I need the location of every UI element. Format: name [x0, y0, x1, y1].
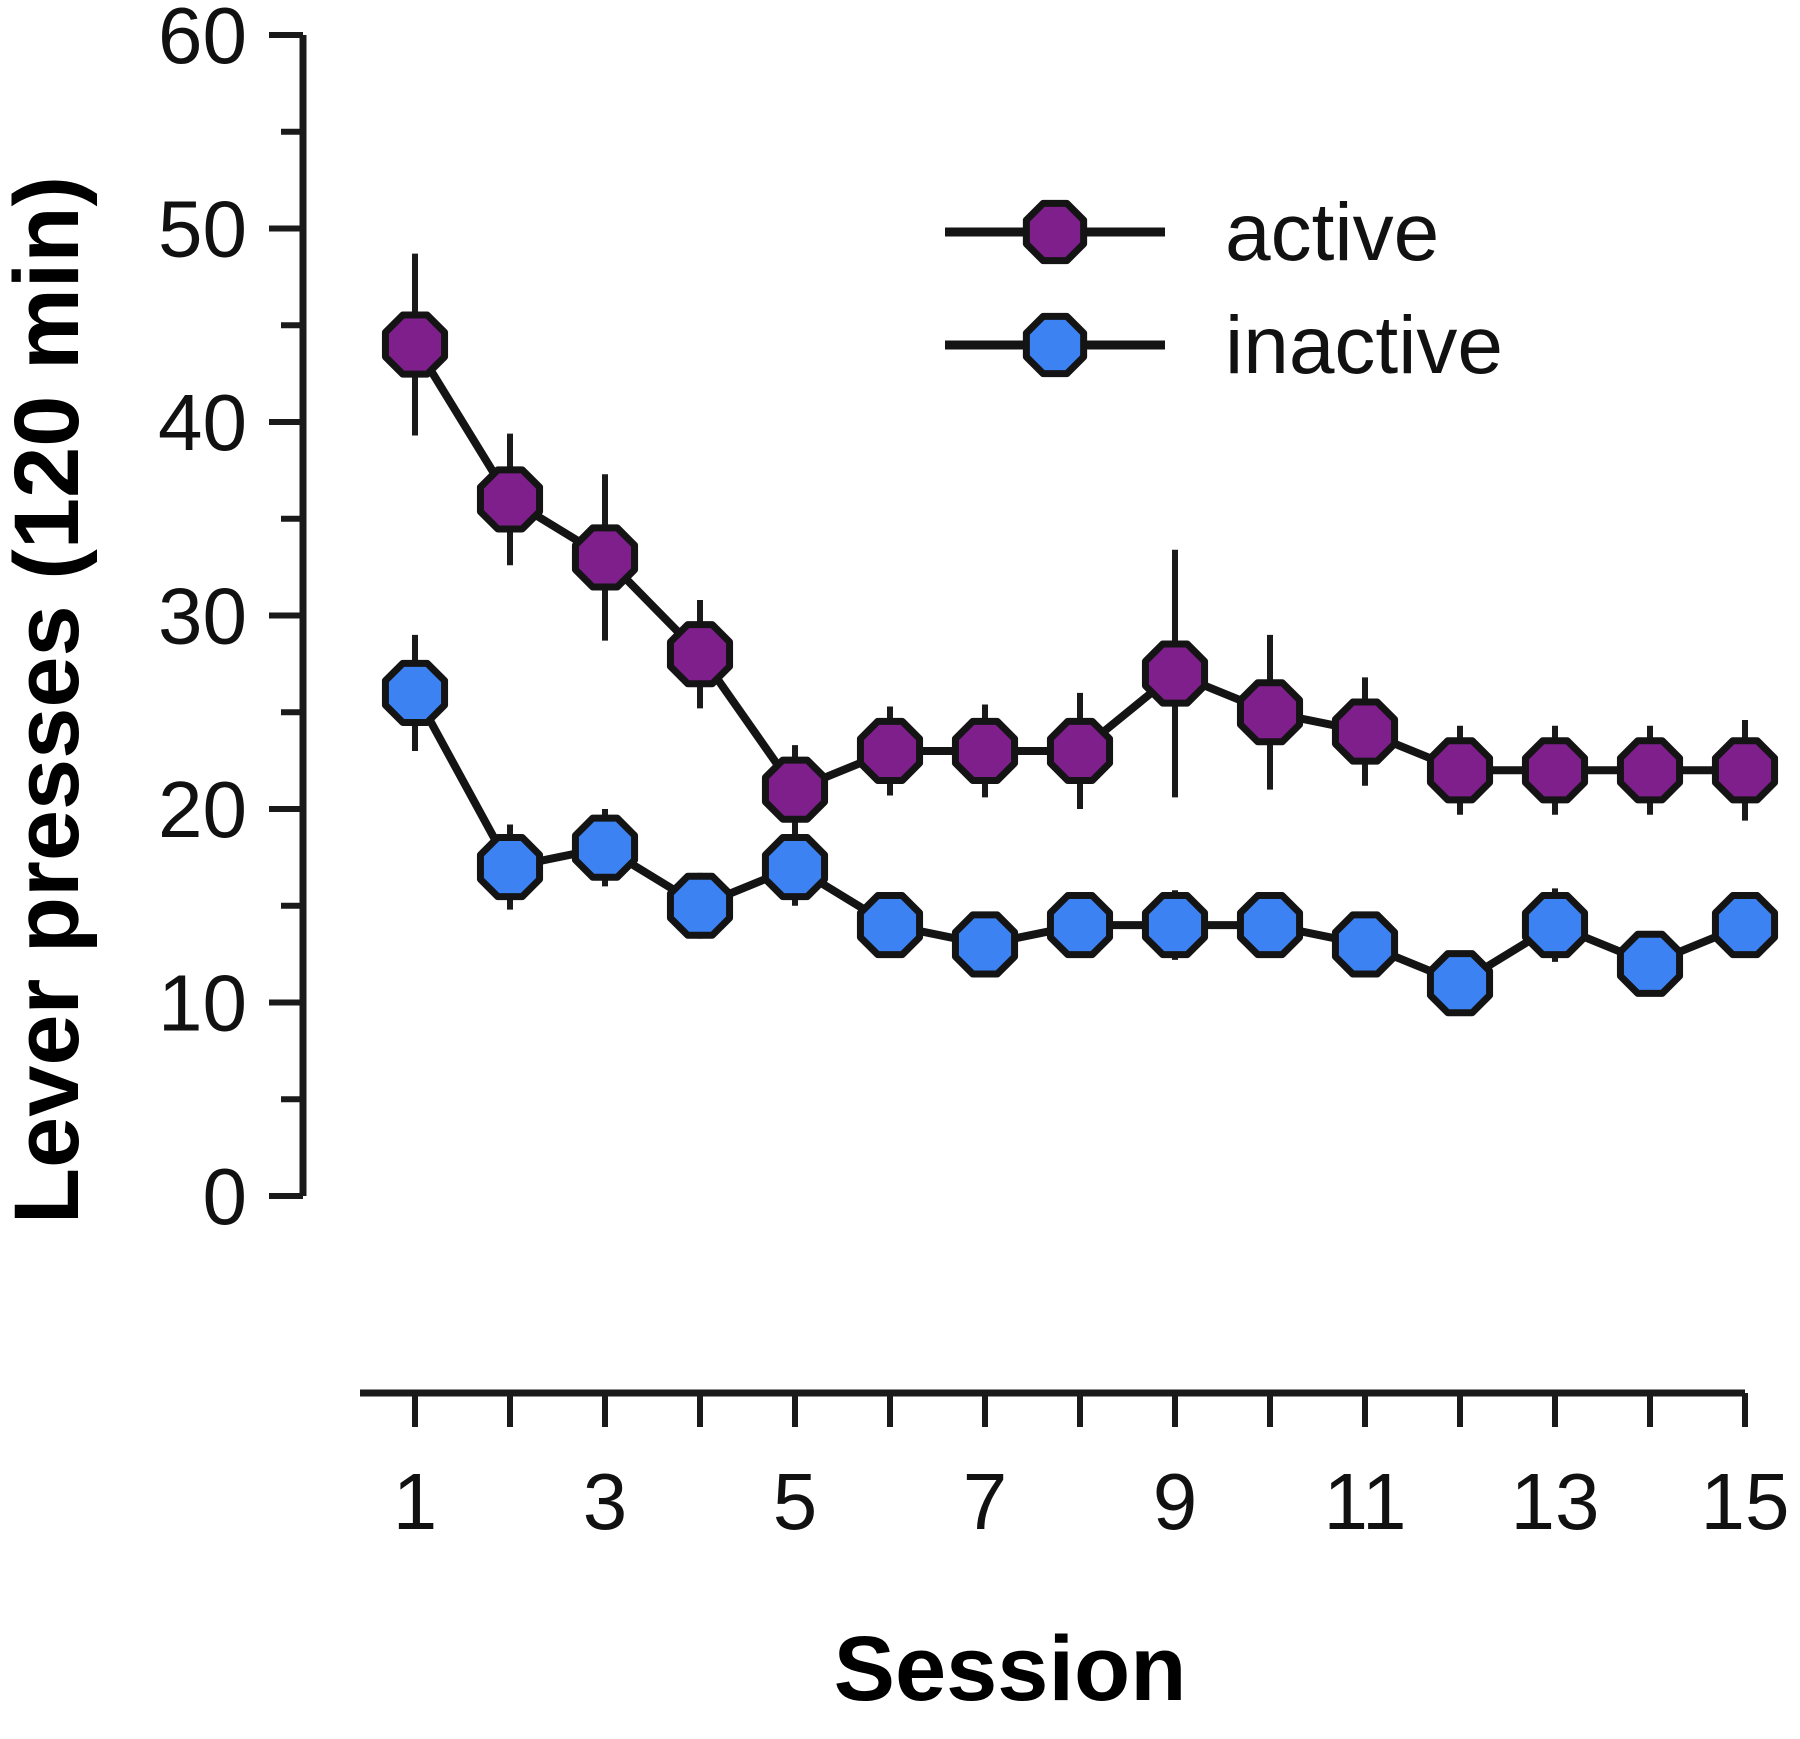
- x-tick-label: 13: [1511, 1457, 1600, 1546]
- x-axis-title: Session: [834, 1618, 1187, 1720]
- y-axis-title: Lever presses (120 min): [0, 176, 98, 1224]
- data-point-marker[interactable]: [385, 315, 444, 374]
- data-point-marker[interactable]: [670, 876, 729, 935]
- data-point-marker[interactable]: [1145, 644, 1204, 703]
- data-point-marker[interactable]: [1145, 896, 1204, 955]
- data-point-marker[interactable]: [385, 663, 444, 722]
- data-point-marker[interactable]: [1335, 702, 1394, 761]
- y-tick-label: 10: [158, 959, 247, 1048]
- x-axis: 13579111315: [360, 1393, 1789, 1546]
- data-point-marker[interactable]: [1050, 721, 1109, 780]
- data-point-marker[interactable]: [1525, 896, 1584, 955]
- x-tick-label: 11: [1323, 1457, 1406, 1546]
- data-point-marker[interactable]: [1335, 915, 1394, 974]
- y-tick-label: 50: [158, 185, 247, 274]
- data-point-marker[interactable]: [860, 721, 919, 780]
- data-point-marker[interactable]: [1620, 934, 1679, 993]
- data-point-marker[interactable]: [765, 837, 824, 896]
- data-point-marker[interactable]: [670, 625, 729, 684]
- data-point-marker[interactable]: [1715, 741, 1774, 800]
- data-point-marker[interactable]: [1620, 741, 1679, 800]
- chart-legend: activeinactive: [945, 187, 1503, 391]
- data-point-marker[interactable]: [1715, 896, 1774, 955]
- x-tick-label: 1: [393, 1457, 438, 1546]
- data-point-marker[interactable]: [1050, 896, 1109, 955]
- line-chart: Lever presses (120 min) Session 01020304…: [0, 0, 1800, 1739]
- y-tick-label: 0: [203, 1152, 248, 1241]
- data-point-marker[interactable]: [955, 721, 1014, 780]
- x-tick-label: 9: [1153, 1457, 1198, 1546]
- legend-label-active: active: [1225, 187, 1439, 278]
- data-point-marker[interactable]: [955, 915, 1014, 974]
- series-inactive: [385, 635, 1774, 1013]
- figure-container: Lever presses (120 min) Session 01020304…: [0, 0, 1800, 1739]
- data-point-marker[interactable]: [480, 470, 539, 529]
- data-point-marker[interactable]: [1430, 954, 1489, 1013]
- data-point-marker[interactable]: [1240, 896, 1299, 955]
- data-series-group: [385, 254, 1774, 1013]
- data-point-marker[interactable]: [480, 837, 539, 896]
- data-point-marker[interactable]: [1430, 741, 1489, 800]
- x-tick-label: 5: [773, 1457, 818, 1546]
- data-point-marker[interactable]: [860, 896, 919, 955]
- y-axis: 0102030405060: [158, 0, 303, 1241]
- x-tick-label: 15: [1701, 1457, 1790, 1546]
- y-tick-label: 30: [158, 572, 247, 661]
- y-tick-label: 40: [158, 378, 247, 467]
- data-point-marker[interactable]: [765, 760, 824, 819]
- legend-marker-inactive[interactable]: [1026, 316, 1083, 373]
- data-point-marker[interactable]: [575, 818, 634, 877]
- data-point-marker[interactable]: [1525, 741, 1584, 800]
- data-point-marker[interactable]: [575, 528, 634, 587]
- y-tick-label: 20: [158, 765, 247, 854]
- x-tick-label: 3: [583, 1457, 628, 1546]
- data-point-marker[interactable]: [1240, 683, 1299, 742]
- legend-label-inactive: inactive: [1225, 300, 1503, 391]
- x-tick-label: 7: [963, 1457, 1008, 1546]
- y-tick-label: 60: [158, 0, 247, 80]
- legend-marker-active[interactable]: [1026, 203, 1083, 260]
